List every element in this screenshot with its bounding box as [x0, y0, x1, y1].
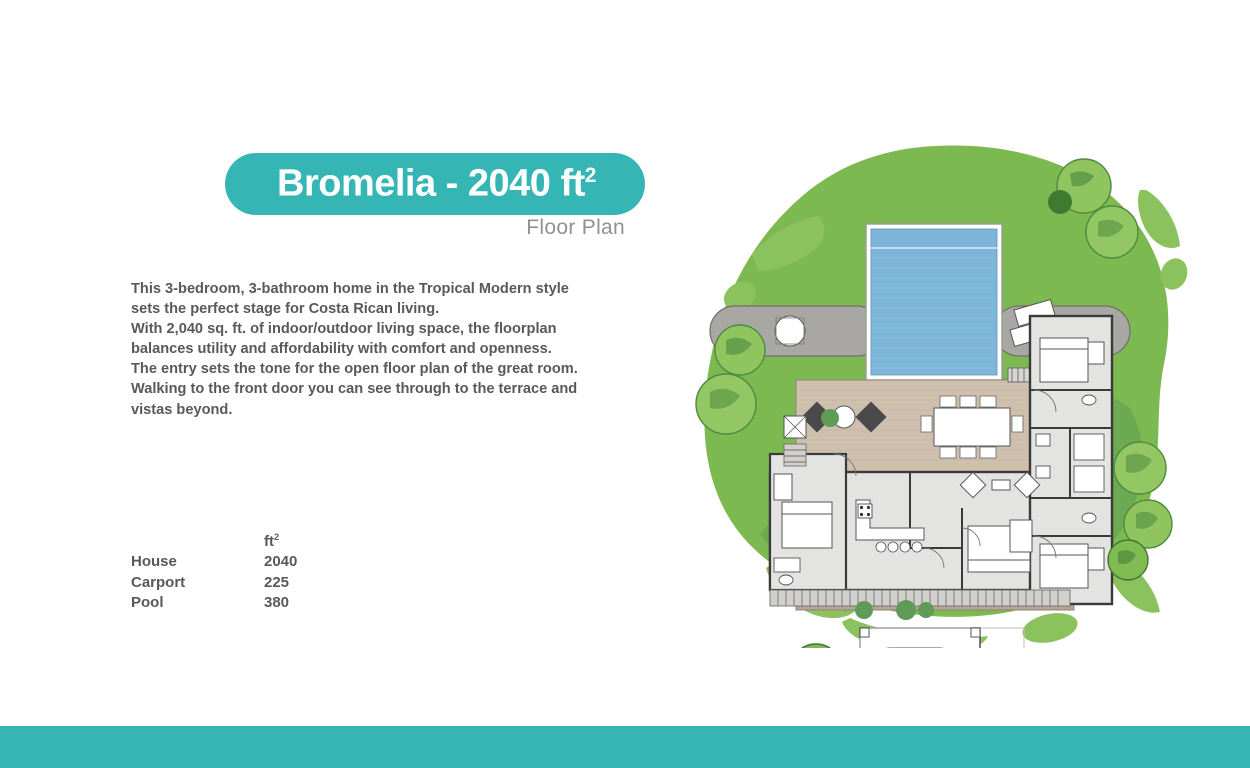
- description-line-1: This 3-bedroom, 3-bathroom home in the T…: [131, 279, 691, 299]
- tree: [1108, 540, 1148, 580]
- area-value-pool: 380: [264, 593, 297, 613]
- table-row: House 2040: [131, 552, 297, 572]
- page-title-text: Bromelia - 2040 ft: [277, 163, 585, 205]
- table-header-row: ft2: [131, 527, 297, 552]
- tree: [1086, 206, 1138, 258]
- table-row: Carport 225: [131, 573, 297, 593]
- area-label-house: House: [131, 552, 264, 572]
- bush: [918, 602, 934, 618]
- tree: [715, 325, 765, 375]
- tree: [790, 644, 842, 648]
- page-subtitle: Floor Plan: [340, 216, 625, 240]
- description-line-5: The entry sets the tone for the open flo…: [131, 359, 691, 379]
- area-label-carport: Carport: [131, 573, 264, 593]
- table-header-blank: [131, 527, 264, 552]
- description-block: This 3-bedroom, 3-bathroom home in the T…: [131, 279, 691, 420]
- pool-group: [866, 224, 1002, 380]
- floorplan-image: [678, 128, 1198, 648]
- description-line-7: vistas beyond.: [131, 400, 691, 420]
- cooktop: [858, 504, 872, 518]
- area-value-house: 2040: [264, 552, 297, 572]
- description-line-6: Walking to the front door you can see th…: [131, 379, 691, 399]
- living-room-group: [968, 520, 1032, 572]
- bush: [821, 409, 839, 427]
- area-table: ft2 House 2040 Carport 225 Pool 380: [131, 527, 371, 614]
- description-line-4: balances utility and affordability with …: [131, 339, 691, 359]
- pool-water: [871, 229, 997, 375]
- terrace-lounge-set: [801, 401, 886, 432]
- carport-slab: [860, 628, 980, 648]
- bush: [855, 601, 873, 619]
- unit-superscript: 2: [274, 532, 279, 542]
- table-header-unit: ft2: [264, 527, 297, 552]
- page-title-superscript: 2: [585, 164, 596, 187]
- area-value-carport: 225: [264, 573, 297, 593]
- table-row: Pool 380: [131, 593, 297, 613]
- bush: [896, 600, 916, 620]
- tree: [1114, 442, 1166, 494]
- page-title: Bromelia - 2040 ft2: [277, 163, 596, 206]
- unit-label: ft: [264, 533, 274, 550]
- outdoor-table-left: [775, 316, 805, 346]
- slide-canvas: Bromelia - 2040 ft2 Floor Plan This 3-be…: [0, 0, 1250, 768]
- south-step-band: [770, 590, 1070, 606]
- title-pill: Bromelia - 2040 ft2: [225, 153, 645, 215]
- footer-bar: [0, 726, 1250, 768]
- area-label-pool: Pool: [131, 593, 264, 613]
- description-line-2: sets the perfect stage for Costa Rican l…: [131, 299, 691, 319]
- carport-group: [860, 628, 1024, 648]
- tree: [696, 374, 756, 434]
- description-line-3: With 2,040 sq. ft. of indoor/outdoor liv…: [131, 319, 691, 339]
